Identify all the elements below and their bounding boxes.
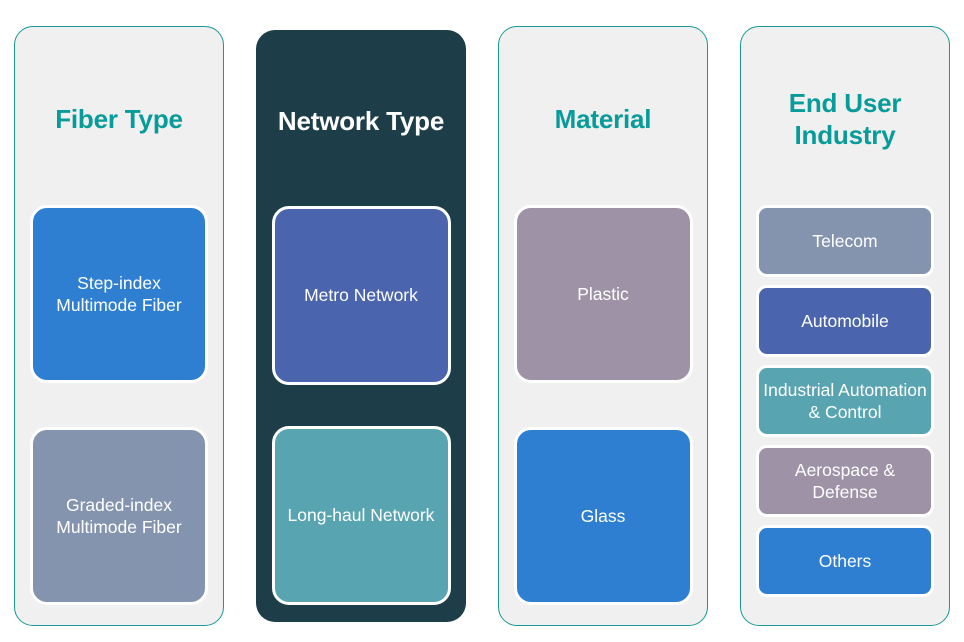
column-items-network-type: Metro Network Long-haul Network [266, 206, 456, 608]
node-label: Glass [577, 505, 630, 527]
node-telecom[interactable]: Telecom [756, 205, 934, 277]
node-label: Industrial Automation & Control [759, 379, 931, 424]
column-title-network-type: Network Type [266, 106, 456, 138]
node-plastic[interactable]: Plastic [514, 205, 693, 383]
node-industrial-automation-control[interactable]: Industrial Automation & Control [756, 365, 934, 437]
node-long-haul-network[interactable]: Long-haul Network [272, 426, 451, 605]
node-label: Step-index Multimode Fiber [33, 272, 205, 317]
column-title-wrapper: Network Type [266, 38, 456, 206]
node-label: Telecom [808, 230, 881, 252]
column-fiber-type: Fiber Type Step-index Multimode Fiber Gr… [14, 26, 224, 626]
node-glass[interactable]: Glass [514, 427, 693, 605]
node-automobile[interactable]: Automobile [756, 285, 934, 357]
node-step-index-multimode-fiber[interactable]: Step-index Multimode Fiber [30, 205, 208, 383]
column-title-material: Material [509, 104, 697, 136]
column-title-wrapper: End User Industry [751, 35, 939, 205]
column-items-end-user-industry: Telecom Automobile Industrial Automation… [751, 205, 939, 611]
node-label: Metro Network [300, 284, 422, 306]
column-material: Material Plastic Glass [498, 26, 708, 626]
node-metro-network[interactable]: Metro Network [272, 206, 451, 385]
node-label: Graded-index Multimode Fiber [33, 494, 205, 539]
node-label: Automobile [797, 310, 893, 332]
column-network-type: Network Type Metro Network Long-haul Net… [256, 30, 466, 622]
column-title-wrapper: Material [509, 35, 697, 205]
node-label: Plastic [573, 283, 633, 305]
column-title-wrapper: Fiber Type [25, 35, 213, 205]
column-items-fiber-type: Step-index Multimode Fiber Graded-index … [25, 205, 213, 611]
column-title-fiber-type: Fiber Type [25, 104, 213, 136]
segmentation-diagram: Fiber Type Step-index Multimode Fiber Gr… [0, 0, 964, 642]
column-end-user-industry: End User Industry Telecom Automobile Ind… [740, 26, 950, 626]
node-aerospace-defense[interactable]: Aerospace & Defense [756, 445, 934, 517]
node-graded-index-multimode-fiber[interactable]: Graded-index Multimode Fiber [30, 427, 208, 605]
column-items-material: Plastic Glass [509, 205, 697, 611]
node-label: Others [815, 550, 876, 572]
node-label: Aerospace & Defense [759, 459, 931, 504]
column-title-end-user-industry: End User Industry [751, 88, 939, 151]
node-label: Long-haul Network [284, 504, 439, 526]
node-others[interactable]: Others [756, 525, 934, 597]
